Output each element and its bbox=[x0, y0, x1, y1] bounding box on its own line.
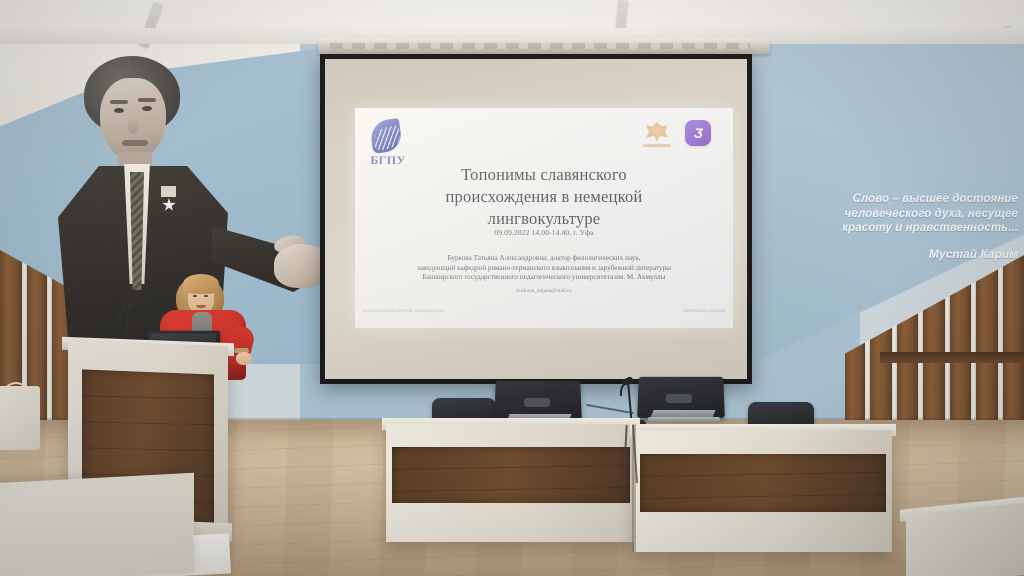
speaker-hair-front bbox=[183, 274, 219, 294]
mural-nose bbox=[128, 114, 138, 134]
slide-title-line-3: лингвокультуре bbox=[381, 208, 707, 230]
mural-eye-right bbox=[142, 106, 152, 111]
monitor-right-hinge bbox=[666, 394, 692, 403]
slide-title: Топонимы славянского происхождения в нем… bbox=[381, 164, 707, 230]
slide-author-line-1: Буркова Татьяна Александровна, доктор фи… bbox=[389, 254, 699, 264]
side-object bbox=[0, 386, 40, 450]
wood-wall-shelf bbox=[880, 352, 1024, 363]
slide-date-location: 09.09.2022 14.00-14.40, г. Уфа bbox=[415, 228, 673, 237]
monitor-right-stand-foot bbox=[648, 417, 720, 422]
eagle-emblem-icon bbox=[646, 122, 668, 142]
monitor-left-hinge bbox=[524, 398, 550, 407]
wall-quote-line-2: человеческого духа, несущее bbox=[796, 207, 1018, 222]
slide-title-line-1: Топонимы славянского bbox=[381, 164, 707, 186]
slide-email: burkova_tatjana@mail.ru bbox=[451, 288, 637, 294]
speaker-eye-right bbox=[204, 295, 208, 297]
wall-quote: Слово – высшее достояние человеческого д… bbox=[796, 192, 1018, 261]
speaker-mouth bbox=[196, 305, 206, 308]
slide-author-block: Буркова Татьяна Александровна, доктор фи… bbox=[389, 254, 699, 283]
eagle-emblem-caption-bar bbox=[643, 144, 671, 147]
presentation-slide: БГПУ Ӡ Топонимы славянского происхождени… bbox=[355, 108, 733, 328]
conference-table-left-wood-panel bbox=[392, 447, 630, 503]
ceiling-vent-grille bbox=[330, 43, 750, 49]
mural-mouth bbox=[122, 140, 148, 146]
slide-title-line-2: происхождения в немецкой bbox=[381, 186, 707, 208]
mural-brow-right bbox=[138, 98, 156, 102]
wall-quote-line-1: Слово – высшее достояние bbox=[796, 192, 1018, 207]
conference-table-right-wood-panel bbox=[640, 454, 886, 512]
mural-medal-ribbon bbox=[161, 186, 176, 197]
mural-eye-left bbox=[114, 108, 124, 113]
purple-logo-glyph: Ӡ bbox=[691, 125, 706, 141]
slide-author-line-2: заведующий кафедрой романо-германского я… bbox=[389, 264, 699, 274]
bgpu-logo-icon: БГПУ bbox=[365, 120, 409, 170]
mural-brow-left bbox=[110, 100, 128, 104]
conference-hall-photo: БГПУ Ӡ Топонимы славянского происхождени… bbox=[0, 0, 1024, 576]
foreground-attendee bbox=[0, 452, 120, 576]
wall-quote-line-3: красоту и нравственность... bbox=[796, 221, 1018, 236]
speaker-hand-right bbox=[236, 352, 252, 365]
wall-quote-author: Мустай Карим bbox=[796, 247, 1018, 261]
slide-footer-right: Материалы доклада bbox=[625, 308, 725, 313]
speaker-eye-left bbox=[193, 295, 197, 297]
slide-footer-left: Всероссийская научная конференция bbox=[363, 308, 444, 313]
slide-author-line-3: Башкирского государственного педагогичес… bbox=[389, 273, 699, 283]
